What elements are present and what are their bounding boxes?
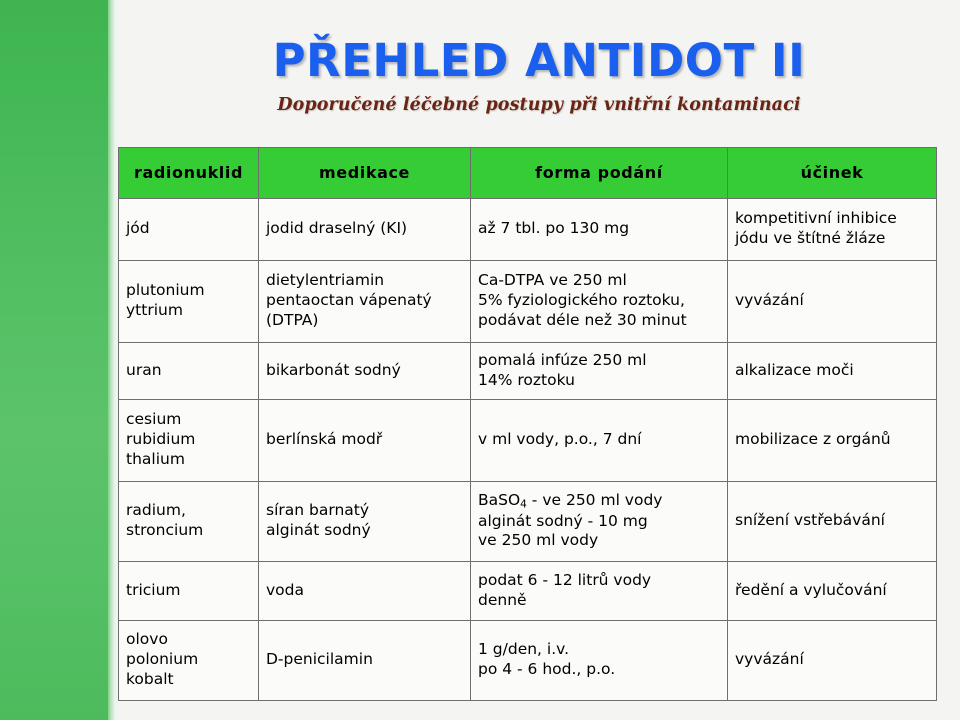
cell-forma-podani: v ml vody, p.o., 7 dní — [471, 400, 728, 482]
cell-forma-podani: pomalá infúze 250 ml14% roztoku — [471, 343, 728, 400]
column-header-medikace: medikace — [259, 148, 471, 199]
cell-line: vyvázání — [735, 650, 929, 670]
cell-line: pomalá infúze 250 ml — [478, 351, 720, 371]
cell-line: dietylentriamin — [266, 271, 463, 291]
cell-ucinek: vyvázání — [728, 621, 937, 701]
cell-line: kobalt — [126, 670, 251, 690]
decorative-green-sidebar — [0, 0, 108, 720]
cell-radionuklid: radium,stroncium — [119, 482, 259, 562]
cell-line: podávat déle než 30 minut — [478, 311, 720, 331]
cell-medikace: voda — [259, 562, 471, 621]
cell-radionuklid: jód — [119, 199, 259, 261]
cell-line: radium, — [126, 501, 251, 521]
cell-line: jodid draselný (KI) — [266, 219, 463, 239]
cell-line: tricium — [126, 581, 251, 601]
antidote-table-container: radionuklid medikace forma podání účinek… — [118, 147, 936, 701]
cell-medikace: dietylentriaminpentaoctan vápenatý(DTPA) — [259, 261, 471, 343]
cell-line: cesium — [126, 410, 251, 430]
cell-line: plutonium — [126, 281, 251, 301]
table-row: triciumvodapodat 6 - 12 litrů vodydenněř… — [119, 562, 937, 621]
cell-line: pentaoctan vápenatý — [266, 291, 463, 311]
cell-forma-podani: podat 6 - 12 litrů vodydenně — [471, 562, 728, 621]
cell-line: ředění a vylučování — [735, 581, 929, 601]
table-row: uranbikarbonát sodnýpomalá infúze 250 ml… — [119, 343, 937, 400]
cell-line: alginát sodný - 10 mg — [478, 512, 720, 532]
table-header: radionuklid medikace forma podání účinek — [119, 148, 937, 199]
decorative-sidebar-edge — [108, 0, 118, 720]
cell-line: síran barnatý — [266, 501, 463, 521]
cell-line: 1 g/den, i.v. — [478, 640, 720, 660]
cell-line: (DTPA) — [266, 311, 463, 331]
cell-radionuklid: uran — [119, 343, 259, 400]
cell-line: D-penicilamin — [266, 650, 463, 670]
cell-line: olovo — [126, 630, 251, 650]
cell-line: snížení vstřebávání — [735, 511, 929, 531]
table-row: jódjodid draselný (KI)až 7 tbl. po 130 m… — [119, 199, 937, 261]
cell-radionuklid: plutoniumyttrium — [119, 261, 259, 343]
cell-line: berlínská modř — [266, 430, 463, 450]
page-title: PŘEHLED ANTIDOT II — [118, 38, 960, 84]
cell-line: rubidium — [126, 430, 251, 450]
page-subtitle: Doporučené léčebné postupy při vnitřní k… — [118, 95, 960, 115]
cell-line: stroncium — [126, 521, 251, 541]
cell-ucinek: vyvázání — [728, 261, 937, 343]
cell-medikace: bikarbonát sodný — [259, 343, 471, 400]
cell-line: jód — [126, 219, 251, 239]
cell-medikace: síran barnatýalginát sodný — [259, 482, 471, 562]
cell-forma-podani: Ca-DTPA ve 250 ml5% fyziologického rozto… — [471, 261, 728, 343]
table-row: plutoniumyttriumdietylentriaminpentaocta… — [119, 261, 937, 343]
cell-line: mobilizace z orgánů — [735, 430, 929, 450]
cell-medikace: jodid draselný (KI) — [259, 199, 471, 261]
cell-radionuklid: olovopoloniumkobalt — [119, 621, 259, 701]
title-block: PŘEHLED ANTIDOT II Doporučené léčebné po… — [118, 0, 960, 115]
cell-line: polonium — [126, 650, 251, 670]
cell-line: jódu ve štítné žláze — [735, 229, 929, 249]
cell-medikace: berlínská modř — [259, 400, 471, 482]
cell-ucinek: mobilizace z orgánů — [728, 400, 937, 482]
cell-line: thalium — [126, 450, 251, 470]
cell-line: v ml vody, p.o., 7 dní — [478, 430, 720, 450]
cell-line: až 7 tbl. po 130 mg — [478, 219, 720, 239]
cell-ucinek: snížení vstřebávání — [728, 482, 937, 562]
cell-line: 5% fyziologického roztoku, — [478, 291, 720, 311]
cell-radionuklid: tricium — [119, 562, 259, 621]
cell-forma-podani: až 7 tbl. po 130 mg — [471, 199, 728, 261]
cell-line: alginát sodný — [266, 521, 463, 541]
cell-line: bikarbonát sodný — [266, 361, 463, 381]
cell-forma-podani: BaSO4 - ve 250 ml vodyalginát sodný - 10… — [471, 482, 728, 562]
table-header-row: radionuklid medikace forma podání účinek — [119, 148, 937, 199]
cell-medikace: D-penicilamin — [259, 621, 471, 701]
column-header-radionuklid: radionuklid — [119, 148, 259, 199]
column-header-ucinek: účinek — [728, 148, 937, 199]
cell-line: voda — [266, 581, 463, 601]
cell-line: alkalizace moči — [735, 361, 929, 381]
cell-ucinek: kompetitivní inhibicejódu ve štítné žláz… — [728, 199, 937, 261]
cell-line: vyvázání — [735, 291, 929, 311]
table-row: olovopoloniumkobaltD-penicilamin1 g/den,… — [119, 621, 937, 701]
cell-line: po 4 - 6 hod., p.o. — [478, 660, 720, 680]
cell-line: Ca-DTPA ve 250 ml — [478, 271, 720, 291]
column-header-forma-podani: forma podání — [471, 148, 728, 199]
cell-ucinek: alkalizace moči — [728, 343, 937, 400]
cell-ucinek: ředění a vylučování — [728, 562, 937, 621]
table-body: jódjodid draselný (KI)až 7 tbl. po 130 m… — [119, 199, 937, 701]
cell-line: denně — [478, 591, 720, 611]
cell-line: kompetitivní inhibice — [735, 209, 929, 229]
slide-content: PŘEHLED ANTIDOT II Doporučené léčebné po… — [118, 0, 960, 720]
cell-forma-podani: 1 g/den, i.v.po 4 - 6 hod., p.o. — [471, 621, 728, 701]
cell-line: BaSO4 - ve 250 ml vody — [478, 491, 720, 512]
cell-line: 14% roztoku — [478, 371, 720, 391]
cell-radionuklid: cesiumrubidiumthalium — [119, 400, 259, 482]
table-row: radium,stronciumsíran barnatýalginát sod… — [119, 482, 937, 562]
cell-line: yttrium — [126, 301, 251, 321]
cell-line: ve 250 ml vody — [478, 531, 720, 551]
cell-line: podat 6 - 12 litrů vody — [478, 571, 720, 591]
antidote-table: radionuklid medikace forma podání účinek… — [118, 147, 937, 701]
table-row: cesiumrubidiumthaliumberlínská modřv ml … — [119, 400, 937, 482]
cell-line: uran — [126, 361, 251, 381]
